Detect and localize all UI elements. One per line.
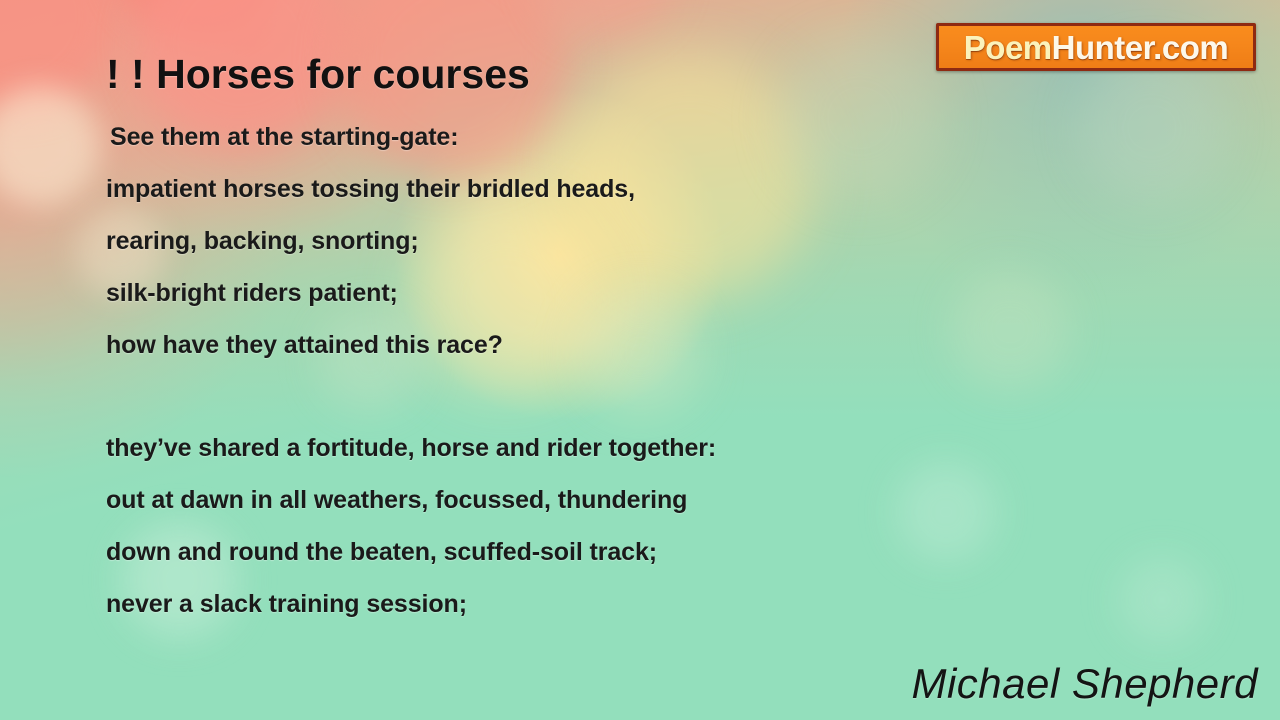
poem-title: ! ! Horses for courses: [106, 53, 530, 96]
poemhunter-logo-text: PoemHunter.com: [964, 31, 1228, 64]
bokeh-circle: [0, 0, 114, 112]
poem-body: See them at the starting-gate:impatient …: [106, 111, 1146, 630]
poem-line: impatient horses tossing their bridled h…: [106, 163, 1146, 215]
poem-line: never a slack training session;: [106, 578, 1146, 630]
poem-line: out at dawn in all weathers, focussed, t…: [106, 474, 1146, 526]
bokeh-circle: [534, 0, 674, 40]
bokeh-circle: [0, 86, 100, 206]
poem-image-card: PoemHunter.com ! ! Horses for courses Se…: [0, 0, 1280, 720]
poem-line: down and round the beaten, scuffed-soil …: [106, 526, 1146, 578]
logo-word-hunter: Hunter.com: [1052, 29, 1229, 66]
bokeh-circle: [110, 0, 282, 40]
poem-line: rearing, backing, snorting;: [106, 215, 1146, 267]
logo-word-poem: Poem: [964, 29, 1052, 66]
poem-stanza: they’ve shared a fortitude, horse and ri…: [106, 422, 1146, 630]
poem-line: silk-bright riders patient;: [106, 267, 1146, 319]
poem-line: they’ve shared a fortitude, horse and ri…: [106, 422, 1146, 474]
poemhunter-logo[interactable]: PoemHunter.com: [936, 23, 1256, 71]
poem-stanza: See them at the starting-gate:impatient …: [106, 111, 1146, 371]
poem-author-signature: Michael Shepherd: [911, 660, 1258, 708]
poem-line: how have they attained this race?: [106, 319, 1146, 371]
stanza-gap: [106, 371, 1146, 422]
poem-line: See them at the starting-gate:: [106, 111, 1146, 163]
